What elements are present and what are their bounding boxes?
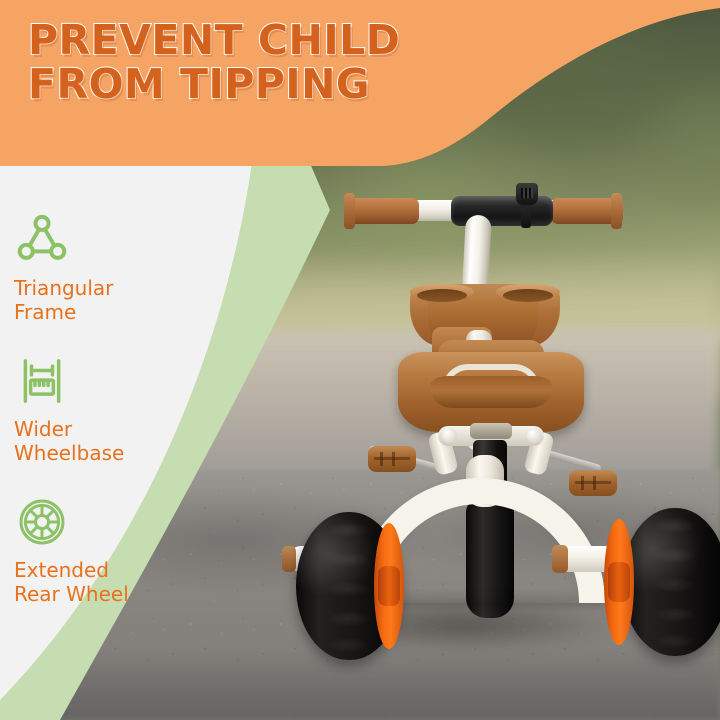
- headline-line-2: FROM TIPPING: [28, 62, 468, 106]
- infographic-canvas: PREVENT CHILD FROM TIPPING Triangular Fr…: [0, 0, 720, 720]
- feature-label-wider-wheelbase: Wider Wheelbase: [14, 417, 182, 466]
- headline-line-1: PREVENT CHILD: [28, 16, 400, 64]
- feature-label-triangular-frame: Triangular Frame: [14, 276, 182, 325]
- wheelbase-measure-icon: [14, 353, 70, 409]
- page-title: PREVENT CHILD FROM TIPPING: [28, 18, 468, 107]
- triangular-frame-icon: [14, 212, 70, 268]
- feature-item-extended-rear-wheel[interactable]: Extended Rear Wheel: [14, 494, 182, 607]
- feature-label-extended-rear-wheel: Extended Rear Wheel: [14, 558, 182, 607]
- feature-item-triangular-frame[interactable]: Triangular Frame: [14, 212, 182, 325]
- feature-list: Triangular Frame Wider Wheelbase: [14, 212, 182, 634]
- wheel-icon: [14, 494, 70, 550]
- feature-item-wider-wheelbase[interactable]: Wider Wheelbase: [14, 353, 182, 466]
